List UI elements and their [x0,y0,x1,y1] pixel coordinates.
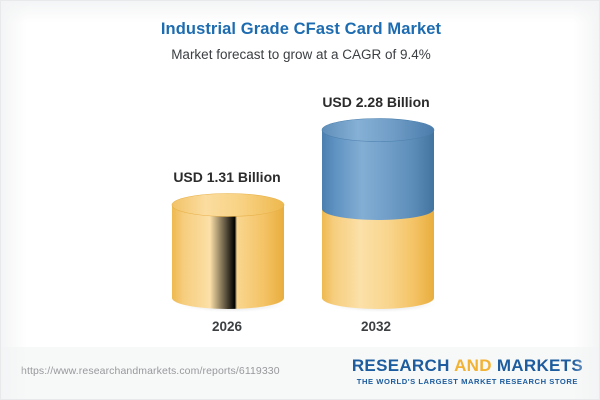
bar-category-label-2032: 2032 [266,319,486,334]
source-url[interactable]: https://www.researchandmarkets.com/repor… [21,365,280,377]
bar-cylinder-2026 [166,191,290,316]
logo-word-and: AND [454,356,492,375]
bar-value-label-2026: USD 1.31 Billion [117,169,337,185]
footer-bar: https://www.researchandmarkets.com/repor… [1,347,600,399]
logo-word-markets: MARKETS [497,356,583,375]
logo-wordmark: RESEARCH AND MARKETS [352,356,583,375]
chart-plot-area: USD 1.31 Billion [1,1,600,349]
market-infographic-card: Industrial Grade CFast Card Market Marke… [0,0,600,400]
bar-cylinder-2032 [316,116,440,316]
research-and-markets-logo[interactable]: RESEARCH AND MARKETS THE WORLD'S LARGEST… [352,356,583,387]
logo-tagline: THE WORLD'S LARGEST MARKET RESEARCH STOR… [352,376,583,387]
bar-value-label-2032: USD 2.28 Billion [266,94,486,110]
logo-word-research: RESEARCH [352,356,450,375]
